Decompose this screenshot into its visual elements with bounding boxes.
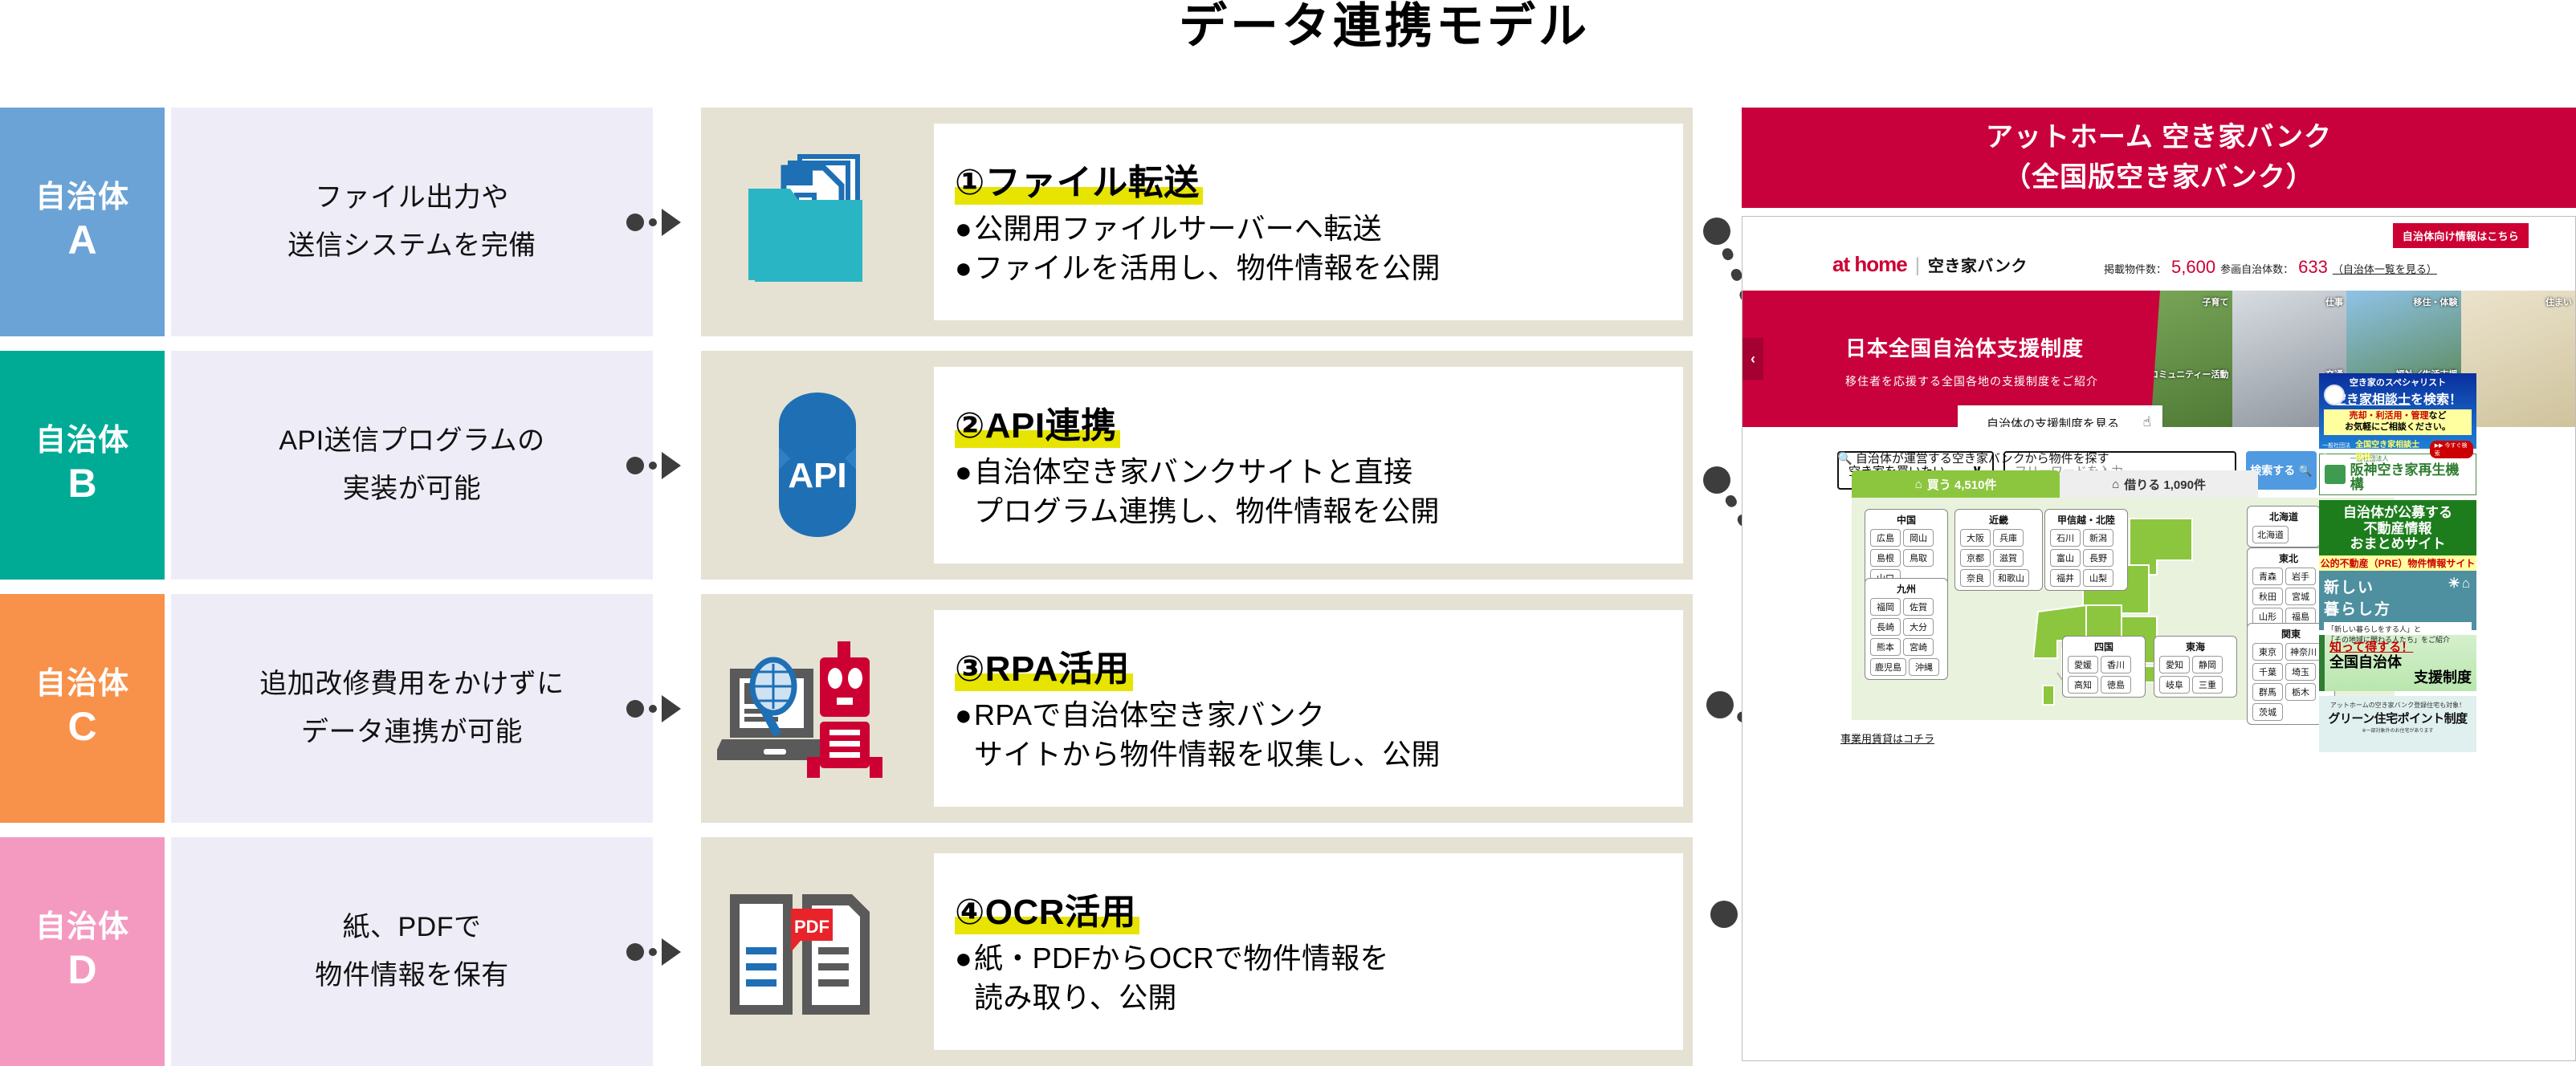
pref-grid: 東京 神奈川 千葉 埼玉 群馬 栃木 茨城: [2252, 643, 2329, 721]
pref-button[interactable]: 秋田: [2252, 588, 2283, 605]
pref-button[interactable]: 鹿児島: [1870, 658, 1906, 676]
pref-button[interactable]: 三重: [2192, 676, 2223, 694]
method-heading-3: ③RPA活用: [955, 649, 1133, 692]
pref-button[interactable]: 宮城: [2285, 588, 2316, 605]
photo-tag: 仕事: [2325, 295, 2343, 308]
pref-button[interactable]: 群馬: [2252, 683, 2283, 701]
region-box-koshinetsu-hokuriku: 甲信越・北陸 石川 新潟 富山 長野 福井 山梨: [2044, 509, 2128, 591]
connector-dot-large: [1703, 218, 1730, 245]
pref-button[interactable]: 高知: [2068, 676, 2098, 694]
banner-pre-site[interactable]: 自治体が公募する 不動産情報 おまとめサイト 公的不動産（PRE）物件情報サイト: [2319, 500, 2476, 566]
method-bullet: ●ファイルを活用し、物件情報を公開: [955, 249, 1670, 288]
region-box-tokai: 東海 愛知 静岡 岐阜 三重: [2154, 636, 2237, 698]
hero-title: 日本全国自治体支援制度: [1845, 332, 2098, 362]
svg-text:PDF: PDF: [794, 917, 829, 937]
municipality-chip-d[interactable]: 自治体 D: [0, 837, 165, 1066]
find-from-bank-label: 🔍 自治体が運営する空き家バンクから物件を探す: [1837, 450, 2109, 466]
bullet-dot-icon: ●: [955, 453, 972, 492]
pref-button[interactable]: 島根: [1870, 549, 1901, 567]
pref-grid: 大阪 兵庫 京都 滋賀 奈良 和歌山: [1960, 529, 2037, 587]
connector-dot-small: [649, 948, 657, 956]
tab-rent[interactable]: ⌂ 借りる 1,090件: [2060, 470, 2258, 498]
website-screenshot: 自治体向け情報はこちら at home | 空き家バンク 掲載物件数： 5,60…: [1742, 216, 2576, 1061]
method-card-2: ②API連携 ●自治体空き家バンクサイトと直接 プログラム連携し、物件情報を公開: [934, 367, 1683, 564]
method-bullet: ●公開用ファイルサーバーへ転送: [955, 210, 1670, 249]
right-header-line-1: アットホーム 空き家バンク: [1986, 118, 2332, 157]
seal-icon: [2324, 384, 2345, 405]
pref-button[interactable]: 滋賀: [1993, 549, 2024, 567]
region-title: 甲信越・北陸: [2050, 513, 2122, 527]
pref-button[interactable]: 茨城: [2252, 703, 2283, 721]
banner-main-text: グリーン住宅ポイント制度: [2324, 710, 2472, 726]
municipality-description-b: API送信プログラムの 実装が可能: [171, 351, 653, 580]
method-card-1: ①ファイル転送 ●公開用ファイルサーバーへ転送 ●ファイルを活用し、物件情報を公…: [934, 124, 1683, 320]
region-box-kinki: 近畿 大阪 兵庫 京都 滋賀 奈良 和歌山: [1954, 509, 2043, 591]
photo-tag: 住まい: [2545, 295, 2572, 308]
desc-line-2: 物件情報を保有: [315, 952, 509, 1000]
pref-button[interactable]: 山梨: [2083, 569, 2113, 587]
model-rows: 自治体 A ファイル出力や 送信システムを完備: [0, 108, 1694, 1066]
arrow-head-icon: [662, 695, 681, 722]
municipality-letter: B: [67, 462, 96, 506]
model-row: 自治体 C 追加改修費用をかけずに データ連携が可能: [0, 594, 1694, 823]
site-stats: 掲載物件数： 5,600 参画自治体数： 633 （自治体一覧を見る）: [2104, 257, 2437, 278]
pref-button[interactable]: 宮崎: [1903, 638, 1934, 656]
photo-tag: 移住・体験: [2414, 295, 2458, 308]
pref-button[interactable]: 愛媛: [2068, 656, 2098, 673]
method-heading-1: ①ファイル転送: [955, 163, 1203, 205]
region-title: 関東: [2252, 627, 2329, 641]
rpa-robot-icon: [701, 594, 934, 823]
photo-tag: コミュニティー活動: [2150, 368, 2228, 380]
folder-document-icon: [701, 108, 934, 336]
dotted-arrow-connector: [626, 452, 699, 479]
arrow-head-icon: [662, 209, 681, 236]
region-title: 北海道: [2252, 510, 2315, 523]
site-logo[interactable]: at home | 空き家バンク: [1832, 252, 2028, 277]
bullet-dot-icon: ●: [955, 210, 972, 249]
pref-button[interactable]: 長崎: [1870, 618, 1901, 636]
region-box-tohoku: 東北 青森 岩手 秋田 宮城 山形 福島: [2247, 547, 2330, 629]
municipality-letter: C: [67, 705, 96, 749]
banner-line-2: 支援制度: [2329, 670, 2472, 686]
method-panel-3: ③RPA活用 ●RPAで自治体空き家バンク サイトから物件情報を収集し、公開: [701, 594, 1693, 823]
desc-line-1: API送信プログラムの: [279, 417, 544, 466]
connector-dot-large: [1703, 466, 1730, 494]
banner-sub-box: 売却・利活用・管理など お気軽にご相談ください。: [2324, 409, 2472, 435]
pref-button[interactable]: 和歌山: [1993, 569, 2029, 587]
banner-note-text: ※一部対象外のお住宅があります: [2324, 726, 2472, 734]
banner-text: 新しい ☀⌂ 暮らし方: [2324, 576, 2472, 619]
pref-button[interactable]: 奈良: [1960, 569, 1991, 587]
pref-button[interactable]: 長野: [2083, 549, 2113, 567]
model-row: 自治体 A ファイル出力や 送信システムを完備: [0, 108, 1694, 336]
pref-button[interactable]: 愛知: [2159, 656, 2190, 673]
right-panel-header: アットホーム 空き家バンク （全国版空き家バンク）: [1742, 108, 2576, 208]
pref-button[interactable]: 神奈川: [2285, 643, 2321, 661]
hero-text-block: 日本全国自治体支援制度 移住者を応援する全国各地の支援制度をご紹介: [1845, 332, 2098, 389]
pref-button[interactable]: 岩手: [2285, 568, 2316, 585]
house-icon: [2325, 465, 2346, 484]
house-icon: ⌂: [1915, 478, 1922, 491]
search-now-pill[interactable]: ▶▶ 今すぐ検索: [2430, 441, 2473, 458]
pref-button[interactable]: 大阪: [1960, 529, 1991, 547]
pref-grid: 愛知 静岡 岐阜 三重: [2159, 656, 2232, 694]
sun-house-icon: ☀⌂: [2448, 576, 2472, 592]
stat-1-value: 5,600: [2171, 257, 2215, 278]
municipality-description-d: 紙、PDFで 物件情報を保有: [171, 837, 653, 1066]
desc-line-2: データ連携が可能: [301, 709, 523, 757]
pref-button[interactable]: 大分: [1903, 618, 1934, 636]
svg-text:API: API: [788, 456, 846, 495]
method-card-3: ③RPA活用 ●RPAで自治体空き家バンク サイトから物件情報を収集し、公開: [934, 610, 1683, 807]
page-title: データ連携モデル: [0, 0, 2576, 54]
pref-grid: 石川 新潟 富山 長野 福井 山梨: [2050, 529, 2122, 587]
pref-grid: 北海道: [2252, 526, 2289, 543]
municipality-chip-c[interactable]: 自治体 C: [0, 594, 165, 823]
region-box-shikoku: 四国 愛媛 香川 高知 徳島: [2062, 636, 2146, 698]
municipality-list-link[interactable]: （自治体一覧を見る）: [2333, 261, 2437, 276]
pref-button[interactable]: 佐賀: [1903, 598, 1934, 616]
arrow-head-icon: [662, 938, 681, 966]
business-rental-link[interactable]: 事業用賃貸はコチラ: [1840, 730, 1934, 746]
municipality-label: 自治体: [35, 181, 129, 215]
method-heading-2: ②API連携: [955, 406, 1120, 449]
logo-subtitle: 空き家バンク: [1928, 253, 2028, 276]
region-title: 東北: [2252, 551, 2325, 565]
dotted-arrow-connector: [626, 695, 699, 722]
desc-line-1: 紙、PDFで: [343, 904, 482, 952]
tab-buy[interactable]: ⌂ 買う 4,510件: [1852, 470, 2060, 498]
api-database-icon: API: [701, 351, 934, 580]
pref-grid: 愛媛 香川 高知 徳島: [2068, 656, 2140, 694]
pref-button[interactable]: 静岡: [2192, 656, 2223, 673]
pref-button[interactable]: 石川: [2050, 529, 2081, 547]
connector-dot-large: [626, 943, 644, 961]
method-bullet: ●紙・PDFからOCRで物件情報を 読み取り、公開: [955, 939, 1670, 1017]
hero-cta-label: 自治体の支援制度を見る: [1987, 417, 2119, 427]
banner-top-text: 空き家のスペシャリスト: [2319, 373, 2476, 389]
municipality-letter: A: [67, 218, 96, 262]
search-icon: 🔍: [2298, 464, 2312, 478]
pref-button[interactable]: 京都: [1960, 549, 1991, 567]
connector-dot-large: [626, 700, 644, 718]
search-icon: 🔍: [1837, 452, 1853, 466]
banner-small-text: アットホームの空き家バンク登録住宅も対象！: [2324, 701, 2472, 710]
municipality-chip-b[interactable]: 自治体 B: [0, 351, 165, 580]
model-row: 自治体 B API送信プログラムの 実装が可能 API: [0, 351, 1694, 580]
pref-button[interactable]: 福岡: [1870, 598, 1901, 616]
pref-button[interactable]: 徳島: [2101, 676, 2131, 694]
connector-dot-small: [649, 462, 657, 470]
bullet-dot-icon: ●: [955, 696, 972, 735]
paper-pdf-icon: PDF: [701, 837, 934, 1066]
pref-grid: 福岡 佐賀 長崎 大分 熊本 宮崎 鹿児島 沖縄: [1870, 598, 1942, 676]
house-icon: ⌂: [2112, 478, 2119, 491]
stat-1-label: 掲載物件数：: [2104, 261, 2166, 276]
cursor-pointer-icon: ☝: [2143, 414, 2151, 427]
method-panel-2: API ②API連携 ●自治体空き家バンクサイトと直接 プログラム連携し、物件情…: [701, 351, 1693, 580]
banner-green-housing-point[interactable]: アットホームの空き家バンク登録住宅も対象！ グリーン住宅ポイント制度 ※一部対象…: [2319, 696, 2476, 752]
municipality-label: 自治体: [35, 911, 129, 945]
buy-rent-tabs: ⌂ 買う 4,510件 ⌂ 借りる 1,090件: [1852, 470, 2258, 498]
dotted-arrow-connector: [626, 209, 699, 236]
photo-tag: 子育て: [2203, 295, 2229, 308]
pref-button[interactable]: 熊本: [1870, 638, 1901, 656]
pref-button[interactable]: 香川: [2101, 656, 2131, 673]
pref-button[interactable]: 沖縄: [1909, 658, 1939, 676]
pref-grid: 青森 岩手 秋田 宮城 山形 福島: [2252, 568, 2325, 625]
pref-button[interactable]: 岐阜: [2159, 676, 2190, 694]
municipality-label: 自治体: [35, 668, 129, 702]
region-title: 東海: [2159, 640, 2232, 653]
pref-button[interactable]: 福井: [2050, 569, 2081, 587]
connector-dot-large: [1706, 691, 1734, 718]
banner-text: 自治体が公募する 不動産情報 おまとめサイト: [2319, 505, 2476, 552]
sidebar-banners: 空き家のスペシャリスト 空き家相談士を検索！ 売却・利活用・管理など お気軽にご…: [2319, 373, 2480, 757]
municipality-letter: D: [67, 948, 96, 992]
model-row: 自治体 D 紙、PDFで 物件情報を保有: [0, 837, 1694, 1066]
stat-2-value: 633: [2298, 257, 2328, 278]
region-title: 中国: [1870, 513, 1942, 527]
pref-button[interactable]: 埼玉: [2285, 663, 2316, 681]
gov-info-button[interactable]: 自治体向け情報はこちら: [2393, 223, 2529, 248]
region-box-hokkaido: 北海道 北海道: [2247, 506, 2321, 547]
connector-dot-large: [1710, 901, 1738, 928]
banner-akiya-soudanshi[interactable]: 空き家のスペシャリスト 空き家相談士を検索！ 売却・利活用・管理など お気軽にご…: [2319, 373, 2476, 449]
municipality-chip-a[interactable]: 自治体 A: [0, 108, 165, 336]
municipality-description-c: 追加改修費用をかけずに データ連携が可能: [171, 594, 653, 823]
bullet-dot-icon: ●: [955, 939, 972, 979]
banner-zenkoku-jichitai-shien[interactable]: 知って得する！ 全国自治体 支援制度: [2319, 635, 2476, 691]
pref-button[interactable]: 北海道: [2252, 526, 2289, 543]
method-heading-4: ④OCR活用: [955, 893, 1139, 935]
connector-dot-small: [649, 705, 657, 713]
region-box-kyushu: 九州 福岡 佐賀 長崎 大分 熊本 宮崎 鹿児島 沖縄: [1865, 578, 1948, 680]
banner-footer: 一般社団法人 全国空き家相談士協会 ▶▶ 今すぐ検索: [2319, 437, 2476, 462]
region-title: 近畿: [1960, 513, 2037, 527]
desc-line-1: 追加改修費用をかけずに: [259, 661, 565, 709]
region-title: 九州: [1870, 582, 1942, 596]
stat-2-label: 参画自治体数：: [2220, 261, 2293, 276]
right-header-line-2: （全国版空き家バンク）: [2003, 158, 2314, 197]
pref-button[interactable]: 新潟: [2083, 529, 2113, 547]
method-bullet: ●自治体空き家バンクサイトと直接 プログラム連携し、物件情報を公開: [955, 453, 1670, 531]
logo-divider: |: [1915, 254, 1920, 277]
connector-dot-small: [649, 218, 657, 226]
arrow-head-icon: [662, 452, 681, 479]
bullet-dot-icon: ●: [955, 249, 972, 288]
method-panel-4: PDF ④OCR活用 ●紙・PDFからOCRで物件情報を 読み取り、公開: [701, 837, 1693, 1066]
pref-button[interactable]: 岡山: [1903, 529, 1934, 547]
pref-button[interactable]: 青森: [2252, 568, 2283, 585]
connector-dot-large: [626, 457, 644, 474]
method-panel-1: ①ファイル転送 ●公開用ファイルサーバーへ転送 ●ファイルを活用し、物件情報を公…: [701, 108, 1693, 336]
banner-red-text: 知って得する！: [2329, 638, 2472, 655]
banner-atarashii-kurashikata[interactable]: 新しい ☀⌂ 暮らし方 「新しい暮らしをする人」と 「その地域に関わる人たち」を…: [2319, 571, 2476, 630]
site-header: 自治体向け情報はこちら at home | 空き家バンク 掲載物件数： 5,60…: [1742, 217, 2575, 291]
region-title: 四国: [2068, 640, 2140, 653]
banner-yellow-strip: 公的不動産（PRE）物件情報サイト: [2319, 555, 2476, 571]
pref-button[interactable]: 東京: [2252, 643, 2283, 661]
athome-logo-text: at home: [1832, 252, 1907, 277]
hero-subtitle: 移住者を応援する全国各地の支援制度をご紹介: [1845, 373, 2098, 389]
right-panel: アットホーム 空き家バンク （全国版空き家バンク） 自治体向け情報はこちら at…: [1742, 108, 2576, 1061]
municipality-label: 自治体: [35, 425, 129, 458]
pref-button[interactable]: 鳥取: [1903, 549, 1934, 567]
carousel-prev-icon[interactable]: ‹: [1742, 338, 1763, 380]
hero-cta-button[interactable]: 自治体の支援制度を見る ☝: [1958, 405, 2162, 427]
method-card-4: ④OCR活用 ●紙・PDFからOCRで物件情報を 読み取り、公開: [934, 853, 1683, 1050]
banner-line-1: 全国自治体: [2329, 655, 2472, 670]
desc-line-2: 実装が可能: [343, 466, 482, 514]
municipality-description-a: ファイル出力や 送信システムを完備: [171, 108, 653, 336]
connector-dot-large: [626, 214, 644, 231]
pref-button[interactable]: 広島: [1870, 529, 1901, 547]
desc-line-2: 送信システムを完備: [287, 222, 536, 271]
pref-button[interactable]: 富山: [2050, 549, 2081, 567]
region-map-panel: 中国 広島 岡山 島根 鳥取 山口 近畿 大阪 兵庫 京都 滋賀 奈良 和歌山: [1852, 498, 2395, 720]
dotted-arrow-connector: [626, 938, 699, 966]
desc-line-1: ファイル出力や: [315, 174, 509, 222]
method-bullet: ●RPAで自治体空き家バンク サイトから物件情報を収集し、公開: [955, 696, 1670, 774]
pref-button[interactable]: 兵庫: [1993, 529, 2024, 547]
pref-button[interactable]: 千葉: [2252, 663, 2283, 681]
pref-button[interactable]: 栃木: [2285, 683, 2316, 701]
